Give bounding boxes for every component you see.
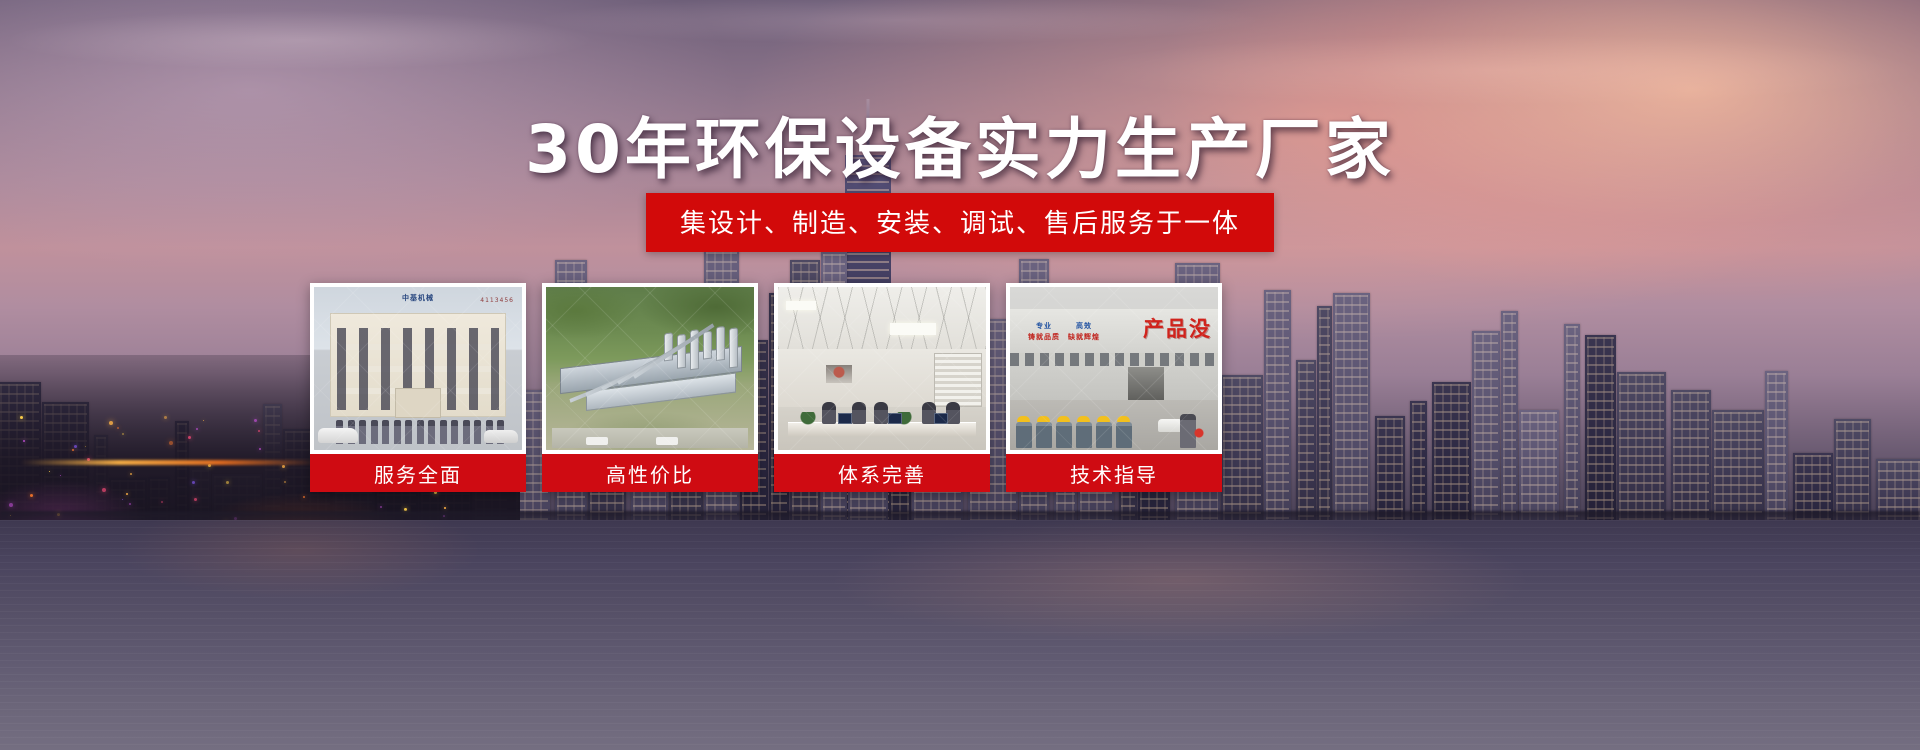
park-light <box>164 416 167 419</box>
park-light <box>30 494 33 497</box>
park-light <box>259 448 261 450</box>
office-interior-image <box>778 287 986 450</box>
park-light <box>282 465 285 468</box>
skyline-building <box>1264 290 1291 545</box>
park-light <box>49 471 50 472</box>
feature-card-label: 技术指导 <box>1006 454 1222 492</box>
feature-card-label: 服务全面 <box>310 454 526 492</box>
park-light <box>161 501 163 503</box>
bridge-light-streak <box>20 460 320 465</box>
skyline-building <box>1333 293 1370 545</box>
feature-card-label: 高性价比 <box>542 454 758 492</box>
feature-card-service[interactable]: 中基机械 4113456 服务全面 <box>310 283 526 492</box>
park-light <box>109 421 113 425</box>
river-water <box>0 520 1920 750</box>
park-light <box>194 498 197 501</box>
watermark-overlay <box>1010 287 1218 450</box>
factory-workshop-image: 产品没 专业 铸就品质 高效 缺就辉煌 <box>1010 287 1218 450</box>
park-light <box>122 433 124 435</box>
park-light <box>226 481 229 484</box>
park-light <box>60 475 61 476</box>
park-light <box>102 488 106 492</box>
park-light <box>192 481 195 484</box>
park-light <box>126 493 128 495</box>
feature-card-guidance[interactable]: 产品没 专业 铸就品质 高效 缺就辉煌 <box>1006 283 1222 492</box>
park-light <box>23 440 25 442</box>
feature-card-row: 中基机械 4113456 服务全面 <box>310 283 1222 492</box>
hero-banner: 30年环保设备实力生产厂家 集设计、制造、安装、调试、售后服务于一体 中基机械 … <box>0 0 1920 750</box>
feature-card-label: 体系完善 <box>774 454 990 492</box>
aerial-plant-image <box>546 287 754 450</box>
skyline-building <box>1317 306 1332 545</box>
park-light <box>188 436 191 439</box>
park-light <box>122 499 123 500</box>
headquarters-building-image: 中基机械 4113456 <box>314 287 522 450</box>
park-light <box>85 446 86 447</box>
feature-card-system[interactable]: 体系完善 <box>774 283 990 492</box>
park-light <box>203 420 204 421</box>
park-light <box>196 428 198 430</box>
subtitle-banner: 集设计、制造、安装、调试、售后服务于一体 <box>646 193 1274 252</box>
watermark-overlay <box>778 287 986 450</box>
park-light <box>380 506 382 508</box>
subtitle-container: 集设计、制造、安装、调试、售后服务于一体 <box>0 193 1920 252</box>
park-light <box>9 503 13 507</box>
park-light <box>20 416 23 419</box>
watermark-overlay <box>314 287 522 450</box>
park-light <box>284 481 286 483</box>
park-light <box>444 507 446 509</box>
park-light <box>130 473 132 475</box>
park-light <box>72 449 74 451</box>
park-light <box>129 503 131 505</box>
park-light <box>169 441 173 445</box>
park-light <box>74 445 77 448</box>
park-light <box>258 430 260 432</box>
feature-card-value[interactable]: 高性价比 <box>542 283 758 492</box>
park-light <box>303 496 305 498</box>
watermark-overlay <box>546 287 754 450</box>
park-light <box>117 427 119 429</box>
page-title: 30年环保设备实力生产厂家 <box>0 96 1920 192</box>
skyline-building <box>1501 311 1518 545</box>
park-light <box>254 419 257 422</box>
